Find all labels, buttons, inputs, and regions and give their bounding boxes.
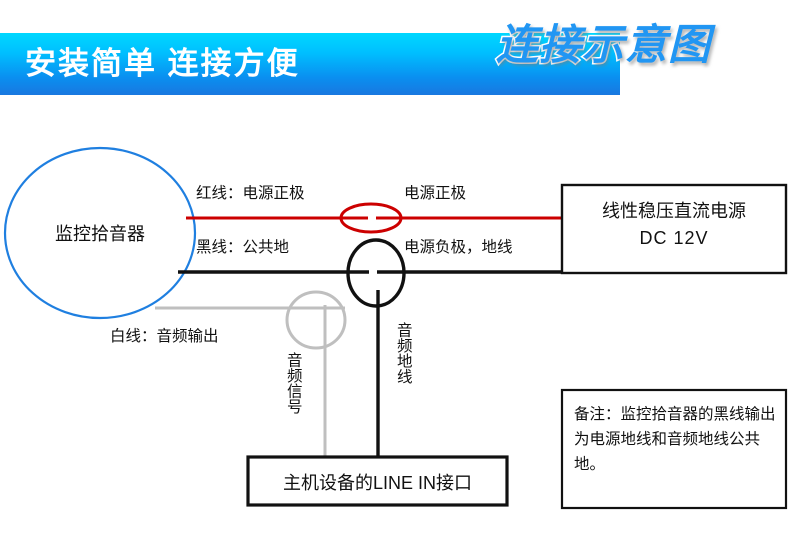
red-wire-label-right: 电源正极 [404,184,466,203]
black-ellipse-connector [348,240,404,306]
microphone-label: 监控拾音器 [5,220,195,246]
white-wire-label: 白线：音频输出 [110,327,219,346]
power-supply-label-line2: DC 12V [562,228,786,249]
black-wire-label-left: 黑线：公共地 [196,238,289,257]
gray-circle-connector [287,292,345,348]
connection-diagram-page: 安装简单 连接方便 连接示意图 监控拾音器 红线：电源正极 电源正极 黑线：公共… [0,0,790,540]
audio-signal-label: 音频信号 [284,352,301,414]
header-title-right: 连接示意图 [496,18,711,72]
black-wire-label-right: 电源负极，地线 [404,238,513,257]
line-in-box-label: 主机设备的LINE IN接口 [248,469,507,495]
red-wire-label-left: 红线：电源正极 [196,184,305,203]
audio-ground-label: 音频地线 [394,322,411,384]
header-title-left: 安装简单 连接方便 [25,43,300,85]
power-supply-label-line1: 线性稳压直流电源 [562,197,786,223]
red-ellipse-connector [341,204,401,232]
note-box-text: 备注：监控拾音器的黑线输出为电源地线和音频地线公共地。 [574,402,776,477]
